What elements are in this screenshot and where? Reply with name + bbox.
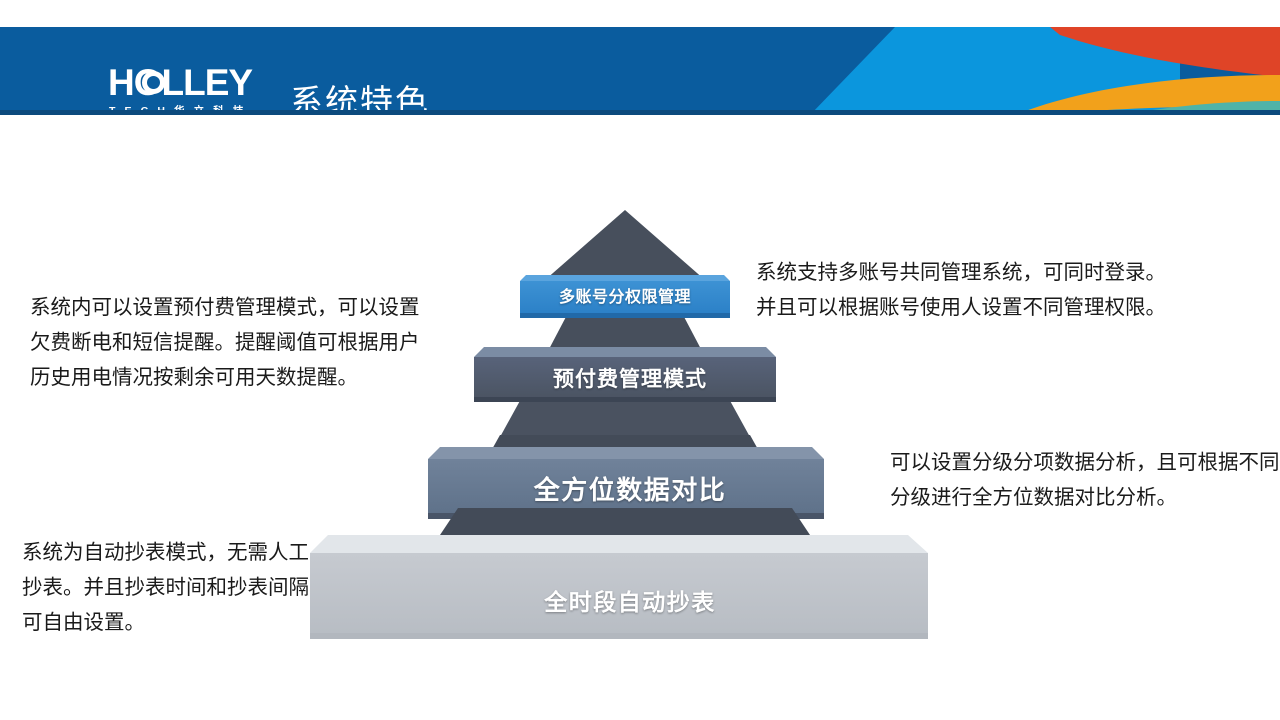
page-title: 系统特色 xyxy=(290,75,430,115)
pyramid-tier3-label: 全方位数据对比 xyxy=(450,470,810,507)
callout-left-bottom: 系统为自动抄表模式，无需人工抄表。并且抄表时间和抄表间隔可自由设置。 xyxy=(22,535,322,640)
pyramid-tier2-label: 预付费管理模式 xyxy=(480,363,780,393)
o-ring-icon xyxy=(142,71,165,94)
callout-left-top: 系统内可以设置预付费管理模式，可以设置欠费断电和短信提醒。提醒阈值可根据用户历史… xyxy=(30,290,430,395)
page-header: HOLLEY T E C H 华 立 科 技 系统特色 xyxy=(0,27,1280,115)
decorative-swoosh xyxy=(760,27,1280,115)
logo-wordmark: HOLLEY xyxy=(108,63,252,103)
pyramid-tier4-label: 全时段自动抄表 xyxy=(430,583,830,617)
callout-right-bottom: 可以设置分级分项数据分析，且可根据不同分级进行全方位数据对比分析。 xyxy=(890,445,1280,515)
holley-logo: HOLLEY T E C H 华 立 科 技 xyxy=(108,63,258,115)
callout-right-top: 系统支持多账号共同管理系统，可同时登录。并且可以根据账号使用人设置不同管理权限。 xyxy=(756,255,1186,325)
pyramid-tier1-label: 多账号分权限管理 xyxy=(525,283,725,307)
header-underline xyxy=(0,110,1280,115)
